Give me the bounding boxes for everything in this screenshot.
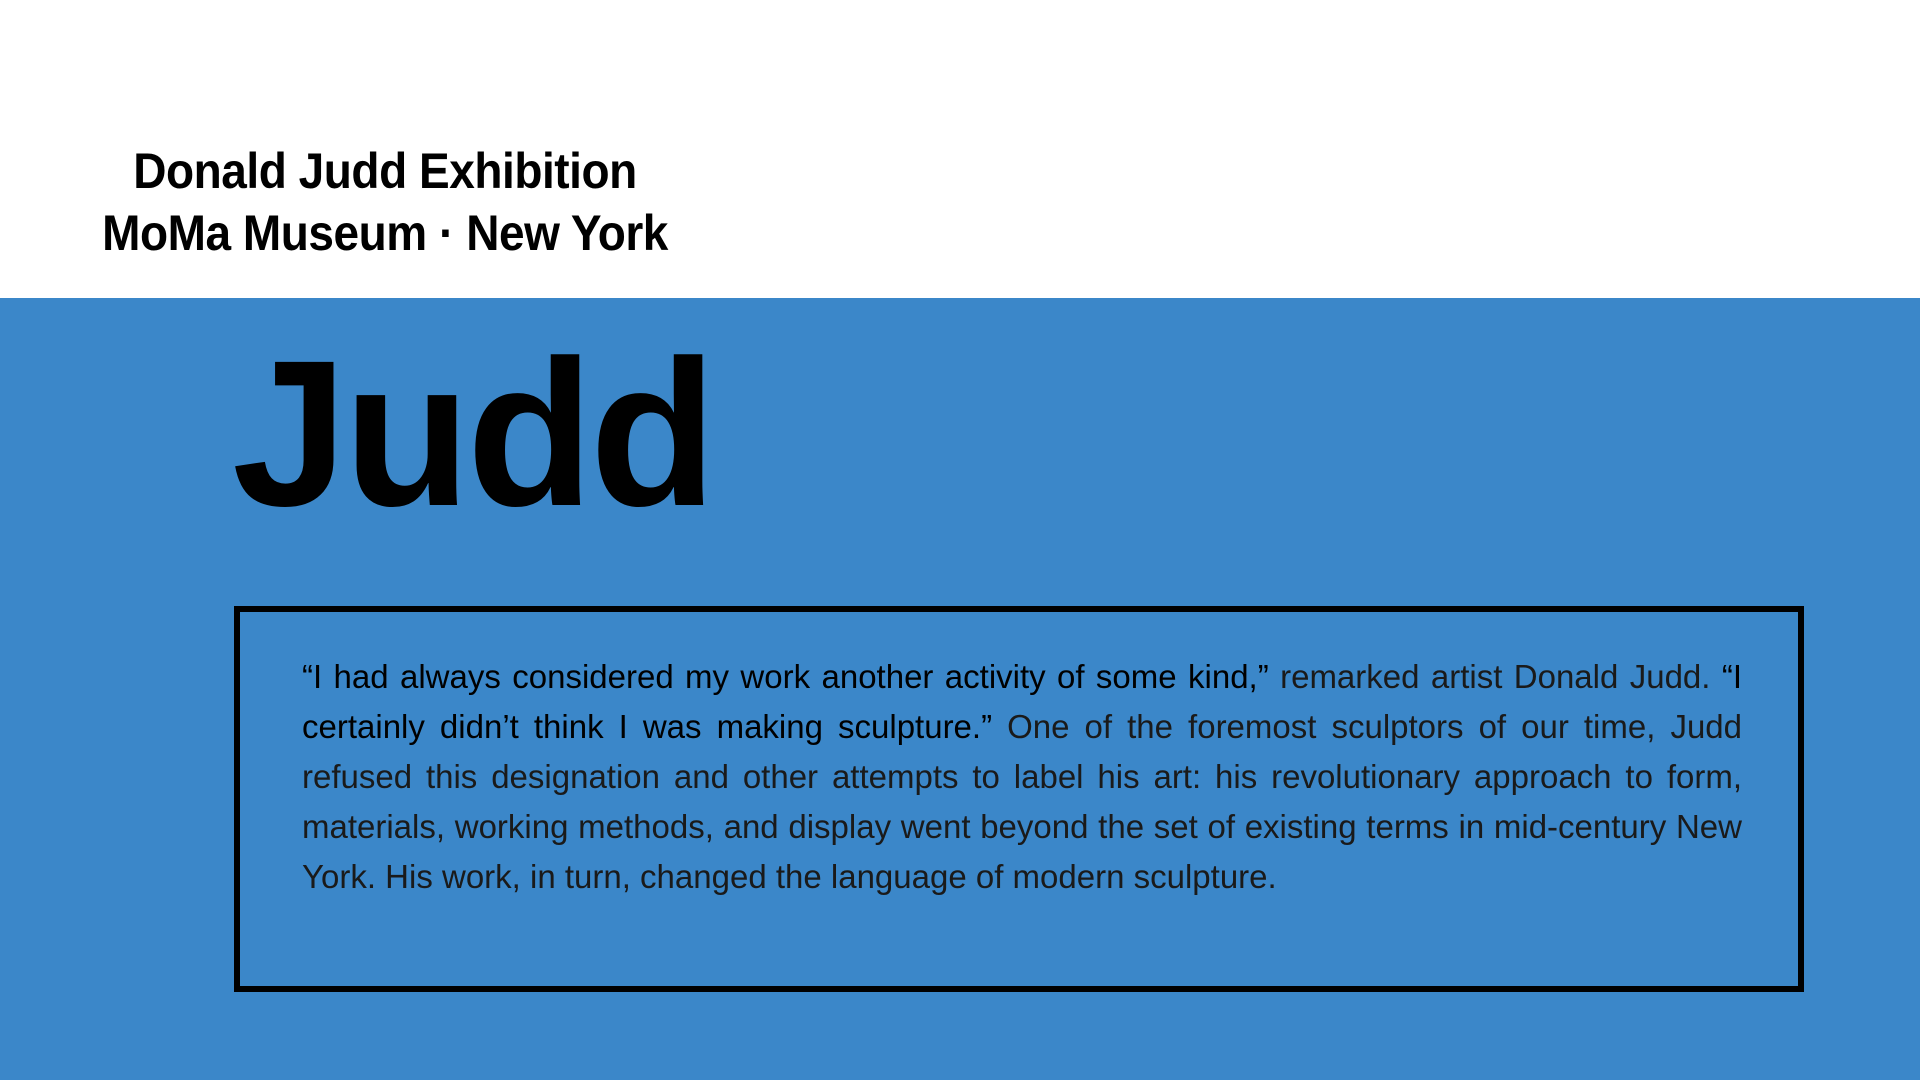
page-title: Judd — [232, 330, 713, 538]
exhibition-title-line-2: MoMa Museum · New York — [31, 202, 739, 264]
header-band: Donald Judd Exhibition MoMa Museum · New… — [0, 0, 1920, 298]
exhibition-title-line-1: Donald Judd Exhibition — [31, 140, 739, 202]
quote-segment-2: remarked artist Donald Judd. — [1269, 658, 1722, 695]
exhibition-title-block: Donald Judd Exhibition MoMa Museum · New… — [31, 140, 739, 264]
quote-text: “I had always considered my work another… — [302, 652, 1742, 902]
quote-box: “I had always considered my work another… — [234, 606, 1804, 992]
quote-segment-1: “I had always considered my work another… — [302, 658, 1269, 695]
